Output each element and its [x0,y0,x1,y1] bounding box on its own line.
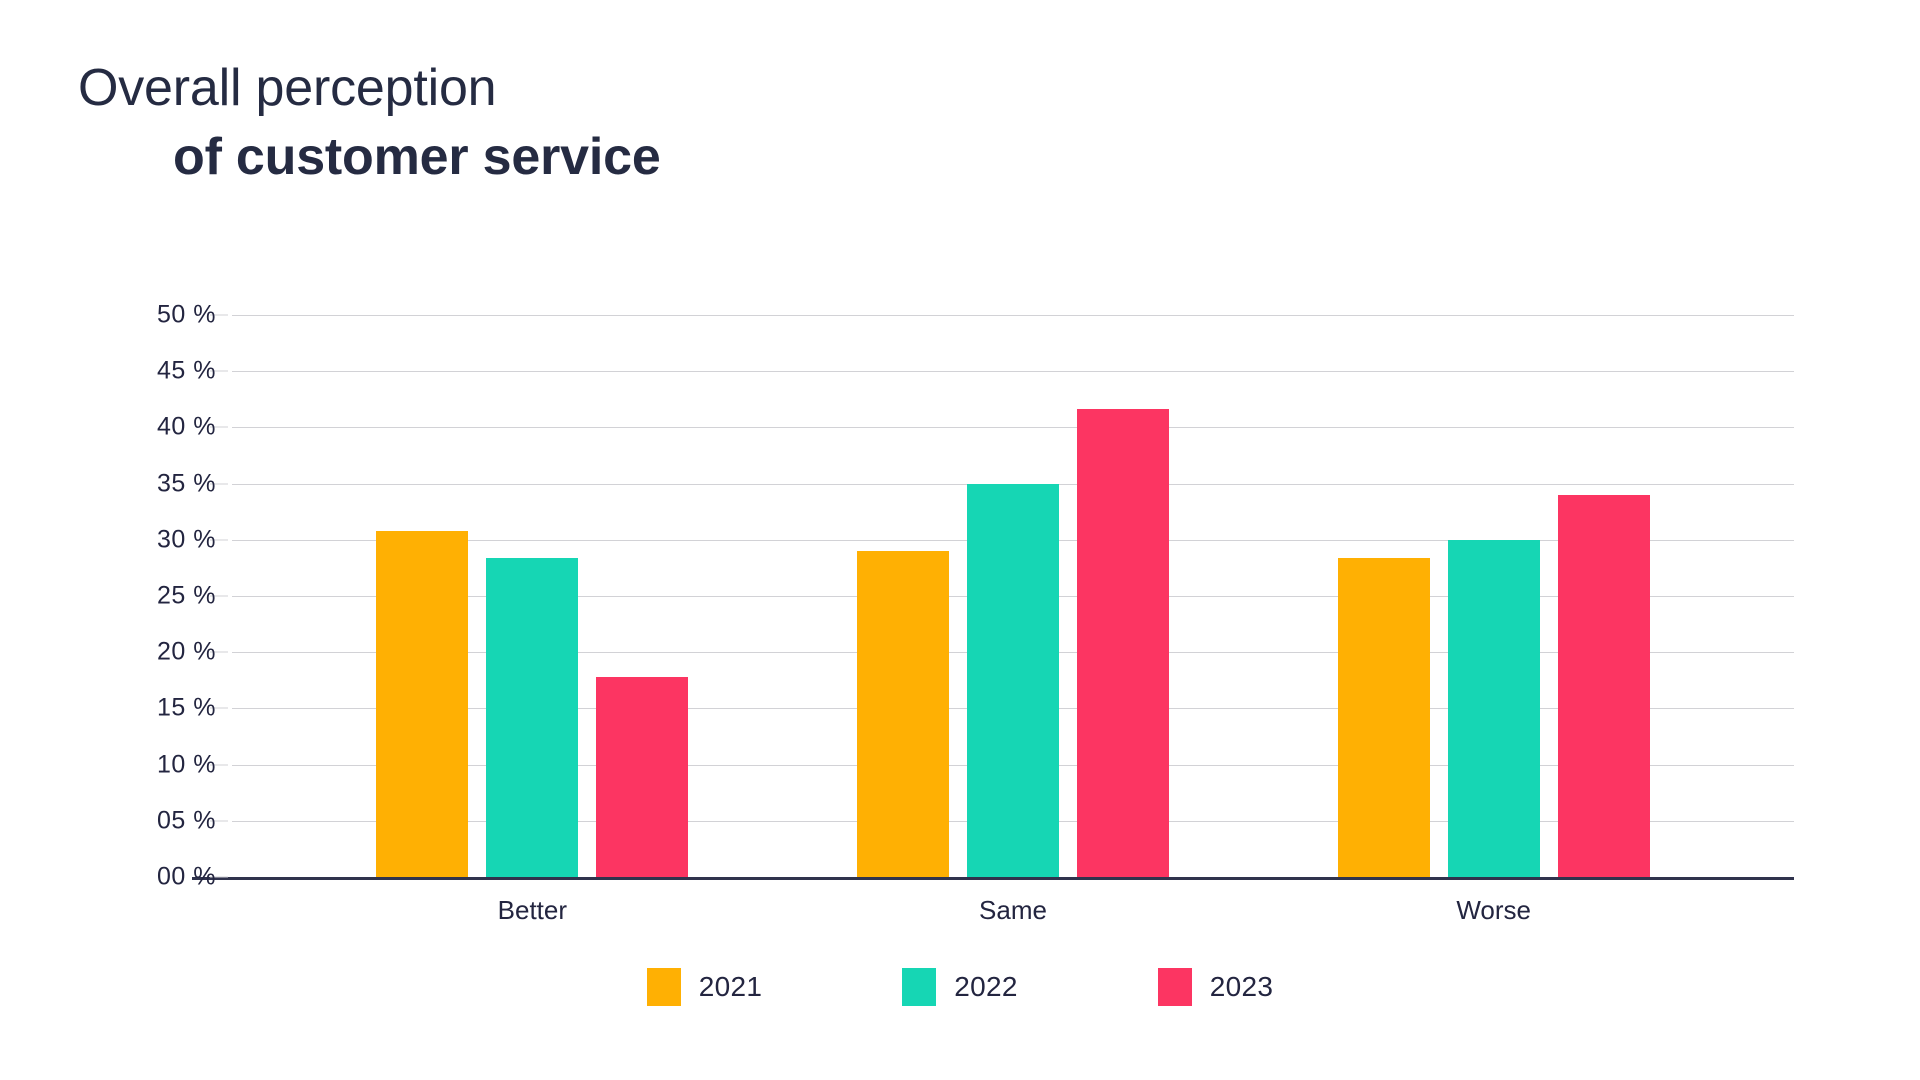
chart-title: Overall perception of customer service [78,54,661,191]
y-axis-tick-label: 25 % [157,582,216,611]
legend-item-2021[interactable]: 2021 [647,968,763,1006]
y-axis-tick-label: 30 % [157,525,216,554]
bar-same-2022[interactable] [967,484,1059,877]
y-axis-tick-label: 10 % [157,750,216,779]
y-axis-tick-label: 50 % [157,301,216,330]
bar-better-2021[interactable] [376,531,468,877]
bar-worse-2021[interactable] [1338,558,1430,877]
y-axis-tick-label: 45 % [157,357,216,386]
legend-swatch-icon [1158,968,1192,1006]
bar-same-2023[interactable] [1077,409,1169,877]
legend-label: 2023 [1210,971,1274,1003]
bar-worse-2023[interactable] [1558,495,1650,877]
y-axis-tick-label: 40 % [157,413,216,442]
x-axis-line [192,877,1794,880]
bar-groups: BetterSameWorse [232,315,1794,877]
x-axis-category-label: Same [857,895,1169,926]
legend-item-2022[interactable]: 2022 [902,968,1018,1006]
y-axis-tick-label: 05 % [157,806,216,835]
bar-group: Worse [1338,315,1650,877]
chart-title-line-1: Overall perception [78,54,661,123]
legend-item-2023[interactable]: 2023 [1158,968,1274,1006]
y-axis-tick-label: 20 % [157,638,216,667]
y-axis-tick-label: 00 % [157,863,216,892]
chart-plot-area: 50 %45 %40 %35 %30 %25 %20 %15 %10 %05 %… [0,290,1920,910]
bar-group: Better [376,315,688,877]
chart-title-line-2: of customer service [78,123,661,192]
bar-better-2022[interactable] [486,558,578,877]
bar-same-2021[interactable] [857,551,949,877]
bar-better-2023[interactable] [596,677,688,877]
bar-group: Same [857,315,1169,877]
x-axis-category-label: Better [376,895,688,926]
chart-canvas: Overall perception of customer service 5… [0,0,1920,1080]
legend-swatch-icon [902,968,936,1006]
legend-label: 2022 [954,971,1018,1003]
plot-box: 50 %45 %40 %35 %30 %25 %20 %15 %10 %05 %… [232,315,1794,877]
bar-worse-2022[interactable] [1448,540,1540,877]
x-axis-category-label: Worse [1338,895,1650,926]
legend-swatch-icon [647,968,681,1006]
chart-legend: 202120222023 [0,968,1920,1006]
y-axis-tick-label: 15 % [157,694,216,723]
legend-label: 2021 [699,971,763,1003]
y-axis-tick-label: 35 % [157,469,216,498]
